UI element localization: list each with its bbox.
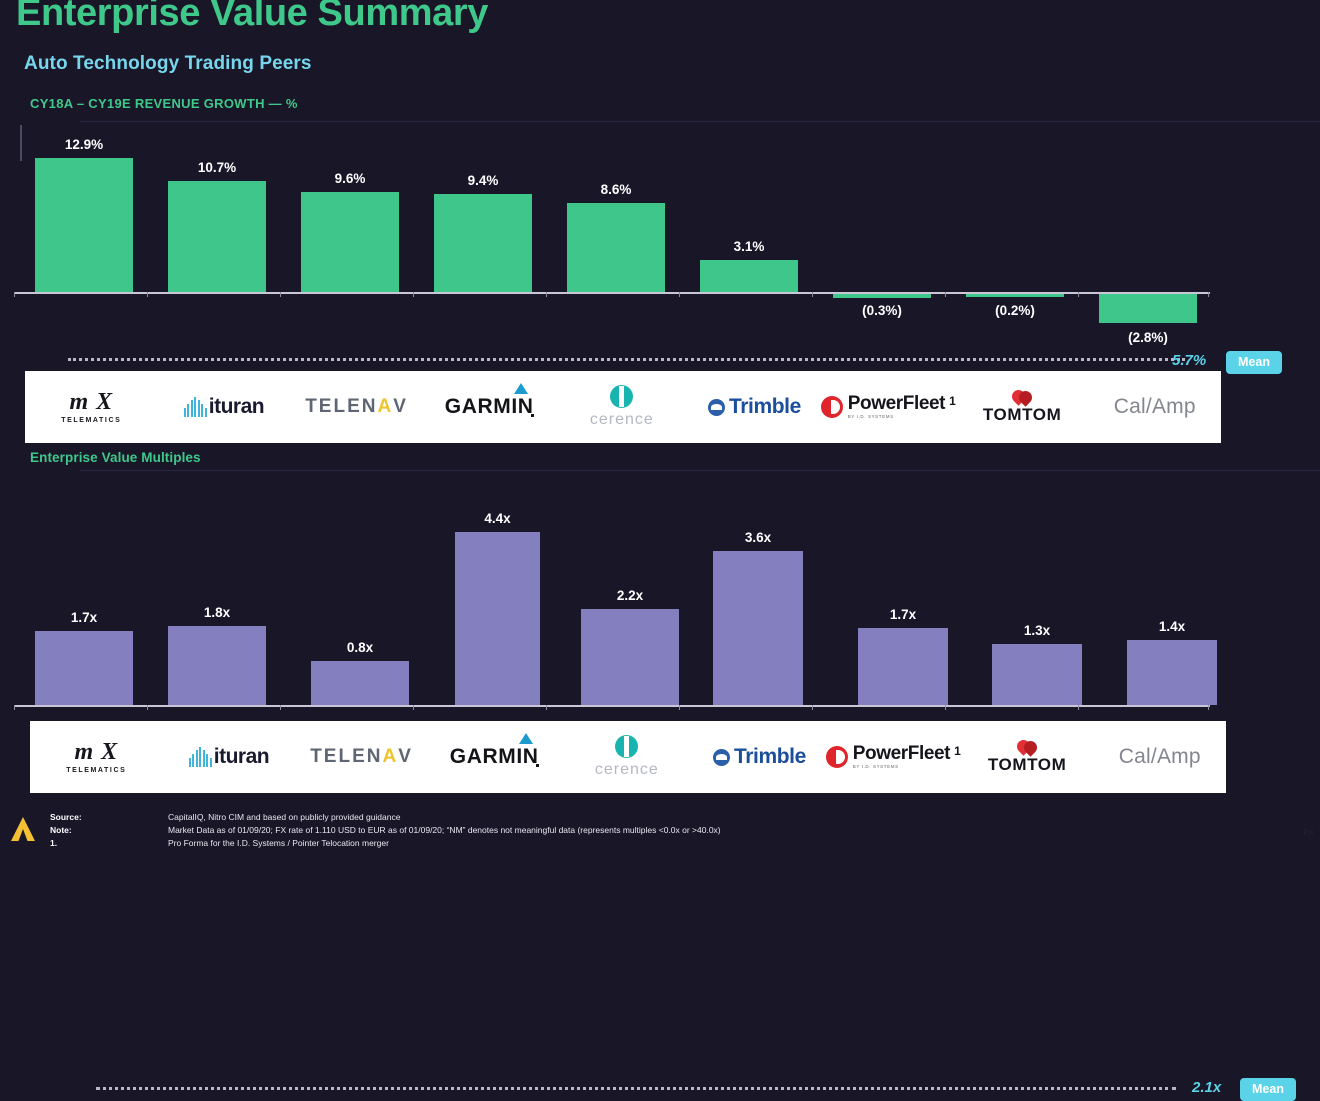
chart-1-bar[interactable]	[434, 194, 532, 292]
chart-2-tick	[679, 705, 680, 710]
powerfleet-logo-mark	[826, 746, 848, 768]
chart-2-tick	[812, 705, 813, 710]
telenav-logo-mark: A	[377, 396, 393, 418]
chart-2-tick	[945, 705, 946, 710]
cerence-logo-text: cerence	[595, 761, 659, 779]
revenue-growth-chart: 12.9% 10.7% 9.6% 9.4% 8.6% 3.1% (0.3%) (…	[0, 125, 1320, 360]
tomtom-logo-text: TOMTOM	[988, 755, 1067, 775]
slide-canvas: Enterprise Value Summary Auto Technology…	[0, 0, 1320, 865]
trimble-logo-mark	[708, 399, 725, 416]
cerence-logo: cerence	[590, 385, 654, 429]
logo-cell-mix-telematics: m X TELEMATICS	[25, 371, 158, 443]
chart-1-tick	[546, 292, 547, 297]
company-logo-strip-top: m X TELEMATICS ituran TELENAV GARMIN	[25, 371, 1221, 443]
company-logo-strip-bottom: m X TELEMATICS ituran TELENAV GARMIN	[30, 721, 1226, 793]
chart-2-bar[interactable]	[168, 626, 266, 705]
chart-1-title: CY18A – CY19E REVENUE GROWTH — %	[30, 96, 298, 111]
chart-2-bar-label: 1.7x	[35, 610, 133, 625]
logo-cell-calamp: Cal/Amp	[1093, 721, 1226, 793]
garmin-logo-text: GARMIN	[445, 395, 534, 419]
logo-cell-telenav: TELENAV	[290, 371, 423, 443]
company-mark-icon	[8, 814, 38, 844]
chart-1-bar-label: (2.8%)	[1099, 330, 1197, 345]
powerfleet-footnote-marker: 1	[949, 394, 956, 408]
chart-2-bar[interactable]	[992, 644, 1082, 705]
telenav-logo-text-a: TELEN	[310, 746, 382, 768]
garmin-logo: GARMIN	[445, 395, 534, 419]
ituran-logo-text: ituran	[214, 745, 269, 769]
telenav-logo: TELENAV	[310, 746, 413, 768]
chart-2-bar-label: 1.3x	[992, 623, 1082, 638]
footer-footnote-value: Pro Forma for the I.D. Systems / Pointer…	[168, 838, 389, 848]
chart-1-mean-value: 5.7%	[1172, 352, 1206, 369]
chart-1-bar-label: 9.6%	[301, 171, 399, 186]
logo-cell-cerence: cerence	[561, 721, 694, 793]
powerfleet-logo-subtext: BY I.D. SYSTEMS	[848, 415, 945, 420]
chart-2-mean-line	[96, 1087, 1176, 1090]
tomtom-logo-text: TOMTOM	[983, 405, 1062, 425]
logo-cell-powerfleet: PowerFleet BY I.D. SYSTEMS 1	[821, 371, 956, 443]
mix-telematics-logo: m X TELEMATICS	[61, 390, 121, 424]
logo-cell-garmin: GARMIN	[428, 721, 561, 793]
mix-telematics-logo-mark: m X	[74, 740, 118, 764]
logo-cell-powerfleet: PowerFleet BY I.D. SYSTEMS 1	[826, 721, 961, 793]
mix-telematics-logo: m X TELEMATICS	[66, 740, 126, 774]
tomtom-logo-mark	[1017, 740, 1037, 754]
logo-cell-telenav: TELENAV	[295, 721, 428, 793]
powerfleet-logo-textwrap: PowerFleet BY I.D. SYSTEMS	[848, 394, 945, 420]
telenav-logo-text-a: TELEN	[305, 396, 377, 418]
chart-1-bar-label: 8.6%	[567, 182, 665, 197]
chart-1-tick	[945, 292, 946, 297]
calamp-logo: Cal/Amp	[1119, 745, 1201, 769]
garmin-logo-mark	[514, 383, 528, 394]
chart-1-y-axis	[20, 125, 22, 161]
chart-1-bar-label: 3.1%	[700, 239, 798, 254]
logo-cell-trimble: Trimble	[688, 371, 821, 443]
trimble-logo: Trimble	[713, 745, 806, 769]
chart-1-bar[interactable]	[35, 158, 133, 292]
trimble-logo-text: Trimble	[729, 395, 801, 419]
logo-cell-cerence: cerence	[556, 371, 689, 443]
footer-source-value: CapitalIQ, Nitro CIM and based on public…	[168, 812, 400, 822]
chart-2-bar-label: 1.7x	[858, 607, 948, 622]
telenav-logo-text-b: V	[393, 396, 408, 418]
powerfleet-logo-textwrap: PowerFleet BY I.D. SYSTEMS	[853, 744, 950, 770]
chart-2-bar-label: 0.8x	[311, 640, 409, 655]
chart-1-bar[interactable]	[700, 260, 798, 292]
chart-1-bar-label: 10.7%	[168, 160, 266, 175]
chart-2-baseline	[14, 705, 1210, 707]
chart-2-tick	[280, 705, 281, 710]
footer: Source: Note: 1. CapitalIQ, Nitro CIM an…	[0, 806, 1320, 865]
chart-2-bar[interactable]	[35, 631, 133, 705]
chart-1-tick	[413, 292, 414, 297]
cerence-logo-mark	[610, 385, 633, 408]
chart-2-bar[interactable]	[1127, 640, 1217, 705]
chart-2-bar[interactable]	[581, 609, 679, 705]
cerence-logo-text: cerence	[590, 411, 654, 429]
mix-telematics-logo-text: TELEMATICS	[61, 417, 121, 424]
logo-cell-calamp: Cal/Amp	[1088, 371, 1221, 443]
divider-top	[80, 121, 1320, 122]
powerfleet-footnote-marker: 1	[954, 744, 961, 758]
chart-1-tick	[280, 292, 281, 297]
powerfleet-logo: PowerFleet BY I.D. SYSTEMS 1	[821, 394, 956, 420]
ev-multiples-chart: 1.7x 1.8x 0.8x 4.4x 2.2x 3.6x 1.7x 1.3x …	[0, 478, 1320, 710]
trimble-logo: Trimble	[708, 395, 801, 419]
powerfleet-logo: PowerFleet BY I.D. SYSTEMS 1	[826, 744, 961, 770]
telenav-logo-text-b: V	[398, 746, 413, 768]
calamp-logo-text-b: Amp	[1157, 745, 1201, 769]
chart-2-tick	[413, 705, 414, 710]
calamp-logo-text-a: Cal	[1119, 745, 1151, 769]
logo-cell-ituran: ituran	[158, 371, 291, 443]
ituran-logo: ituran	[184, 395, 264, 419]
trimble-logo-text: Trimble	[734, 745, 806, 769]
chart-2-bar-label: 2.2x	[581, 588, 679, 603]
chart-2-mean-badge[interactable]: Mean	[1240, 1078, 1296, 1101]
chart-1-bar-label: (0.3%)	[833, 303, 931, 318]
chart-1-mean-badge[interactable]: Mean	[1226, 351, 1282, 374]
garmin-logo-dot	[536, 764, 539, 767]
logo-cell-trimble: Trimble	[693, 721, 826, 793]
chart-1-bar[interactable]	[301, 192, 399, 292]
mix-telematics-logo-mark: m X	[69, 390, 113, 414]
powerfleet-logo-text: PowerFleet	[848, 394, 945, 413]
garmin-logo-text: GARMIN	[450, 745, 539, 769]
chart-2-bar[interactable]	[311, 661, 409, 705]
mix-telematics-logo-text: TELEMATICS	[66, 767, 126, 774]
ituran-logo-text: ituran	[209, 395, 264, 419]
chart-2-bar-label: 3.6x	[713, 530, 803, 545]
page-title: Enterprise Value Summary	[16, 0, 488, 35]
chart-2-bar-label: 1.8x	[168, 605, 266, 620]
chart-2-bar-label: 1.4x	[1127, 619, 1217, 634]
logo-cell-mix-telematics: m X TELEMATICS	[30, 721, 163, 793]
chart-1-tick	[147, 292, 148, 297]
chart-1-bar-label: 12.9%	[35, 137, 133, 152]
footer-source-label: Source:	[50, 812, 82, 822]
powerfleet-logo-mark	[821, 396, 843, 418]
chart-2-title: Enterprise Value Multiples	[30, 450, 201, 465]
chart-1-bar[interactable]	[966, 294, 1064, 297]
chart-1-bar[interactable]	[833, 294, 931, 298]
chart-2-bar[interactable]	[858, 628, 948, 705]
calamp-logo-text-b: Amp	[1152, 395, 1196, 419]
chart-2-tick	[1078, 705, 1079, 710]
chart-1-tick	[679, 292, 680, 297]
page-subtitle: Auto Technology Trading Peers	[24, 53, 312, 75]
chart-2-bar[interactable]	[713, 551, 803, 705]
cerence-logo: cerence	[595, 735, 659, 779]
logo-cell-tomtom: TOMTOM	[956, 371, 1089, 443]
ituran-logo-mark	[189, 747, 212, 767]
chart-2-tick	[1208, 705, 1209, 710]
ituran-logo: ituran	[189, 745, 269, 769]
ituran-logo-mark	[184, 397, 207, 417]
tomtom-logo: TOMTOM	[983, 390, 1062, 425]
tomtom-logo: TOMTOM	[988, 740, 1067, 775]
garmin-logo-mark	[519, 733, 533, 744]
chart-1-tick	[1078, 292, 1079, 297]
powerfleet-logo-subtext: BY I.D. SYSTEMS	[853, 765, 950, 770]
powerfleet-logo-text: PowerFleet	[853, 744, 950, 763]
footer-footnote-label: 1.	[50, 838, 57, 848]
chart-1-bar[interactable]	[567, 203, 665, 292]
garmin-logo-dot	[531, 414, 534, 417]
chart-1-tick	[14, 292, 15, 297]
calamp-logo: Cal/Amp	[1114, 395, 1196, 419]
logo-cell-garmin: GARMIN	[423, 371, 556, 443]
chart-1-bar[interactable]	[168, 181, 266, 292]
chart-2-mean-value: 2.1x	[1192, 1079, 1221, 1096]
calamp-logo-text-a: Cal	[1114, 395, 1146, 419]
cerence-logo-mark	[615, 735, 638, 758]
chart-1-bar-label: 9.4%	[434, 173, 532, 188]
trimble-logo-mark	[713, 749, 730, 766]
telenav-logo-mark: A	[382, 746, 398, 768]
page-number: PX	[1303, 828, 1314, 837]
telenav-logo: TELENAV	[305, 396, 408, 418]
divider-mid	[80, 470, 1320, 471]
garmin-logo: GARMIN	[450, 745, 539, 769]
chart-2-tick	[14, 705, 15, 710]
logo-cell-ituran: ituran	[163, 721, 296, 793]
logo-cell-tomtom: TOMTOM	[961, 721, 1094, 793]
chart-1-tick	[1208, 292, 1209, 297]
chart-2-tick	[147, 705, 148, 710]
tomtom-logo-mark	[1012, 390, 1032, 404]
footer-note-value: Market Data as of 01/09/20; FX rate of 1…	[168, 825, 721, 835]
chart-2-tick	[546, 705, 547, 710]
chart-2-bar-label: 4.4x	[455, 511, 540, 526]
footer-note-label: Note:	[50, 825, 72, 835]
chart-1-bar[interactable]	[1099, 294, 1197, 323]
chart-1-tick	[812, 292, 813, 297]
chart-1-bar-label: (0.2%)	[966, 303, 1064, 318]
chart-2-bar[interactable]	[455, 532, 540, 705]
chart-1-mean-line	[68, 358, 1185, 361]
